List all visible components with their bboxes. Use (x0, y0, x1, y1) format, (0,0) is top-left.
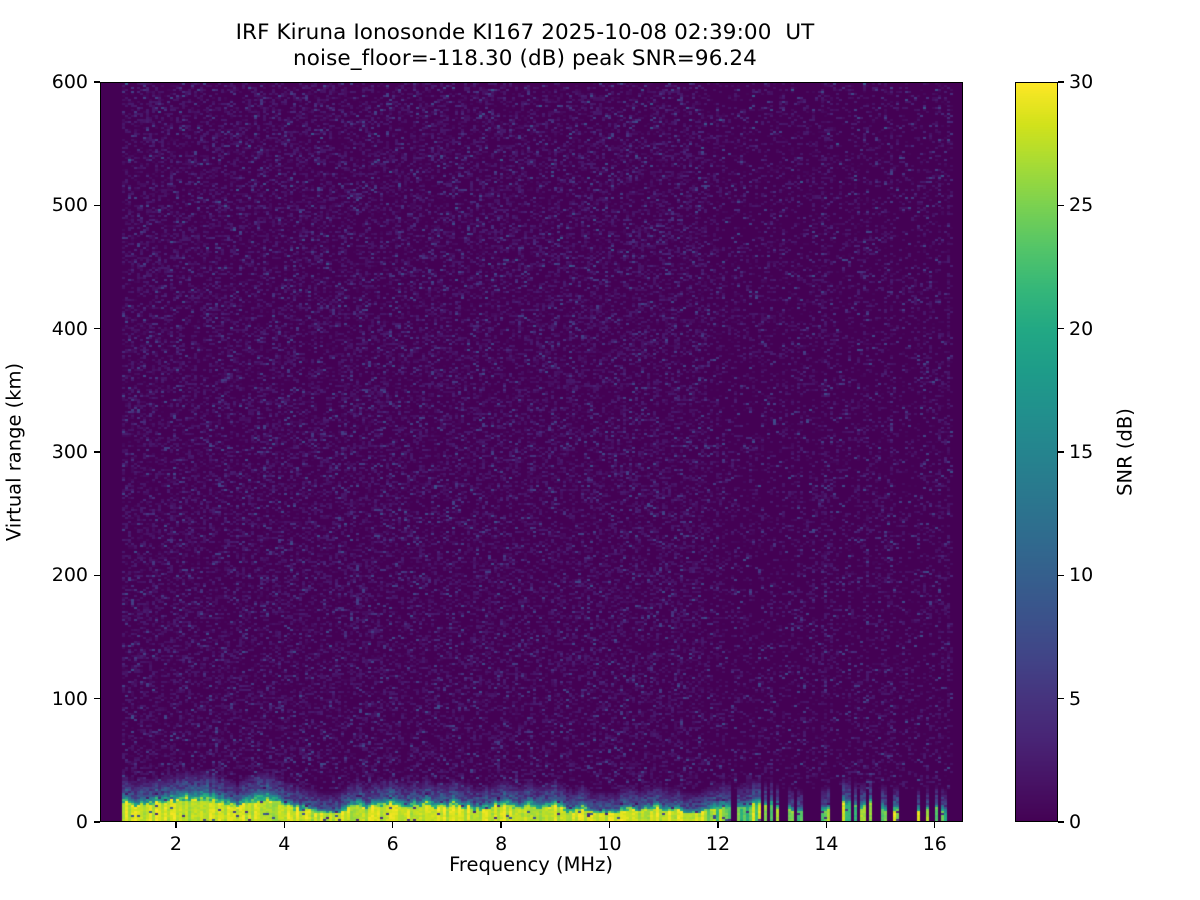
colorbar-tick-label: 15 (1069, 441, 1093, 463)
ionogram-heatmap[interactable] (101, 83, 963, 822)
y-axis-tick-mark (94, 451, 100, 452)
colorbar-tick-mark (1058, 698, 1064, 699)
y-axis-tick-label: 100 (34, 688, 88, 710)
ionogram-figure: IRF Kiruna Ionosonde KI167 2025-10-08 02… (0, 0, 1200, 900)
colorbar-gradient (1016, 83, 1058, 822)
x-axis-label: Frequency (MHz) (449, 853, 613, 876)
x-axis-tick-label: 2 (170, 833, 182, 855)
x-axis-tick-mark (934, 822, 935, 828)
x-axis-tick-mark (392, 822, 393, 828)
y-axis-label: Virtual range (km) (3, 363, 26, 541)
x-axis-tick-mark (175, 822, 176, 828)
colorbar-tick-label: 25 (1069, 194, 1093, 216)
plot-area[interactable] (100, 82, 963, 822)
colorbar-tick-label: 10 (1069, 564, 1093, 586)
x-axis-tick-label: 14 (814, 833, 838, 855)
x-axis-tick-label: 12 (706, 833, 730, 855)
y-axis-tick-label: 200 (34, 564, 88, 586)
colorbar-tick-mark (1058, 205, 1064, 206)
colorbar-tick-label: 20 (1069, 318, 1093, 340)
colorbar[interactable] (1015, 82, 1058, 822)
colorbar-tick-mark (1058, 821, 1064, 822)
y-axis-tick-mark (94, 821, 100, 822)
colorbar-tick-mark (1058, 328, 1064, 329)
y-axis-tick-mark (94, 698, 100, 699)
y-axis-tick-mark (94, 328, 100, 329)
x-axis-tick-label: 8 (495, 833, 507, 855)
colorbar-tick-mark (1058, 451, 1064, 452)
x-axis-tick-mark (609, 822, 610, 828)
colorbar-tick-mark (1058, 81, 1064, 82)
y-axis-tick-label: 500 (34, 194, 88, 216)
chart-title-line-1: IRF Kiruna Ionosonde KI167 2025-10-08 02… (0, 20, 1050, 46)
y-axis-tick-label: 600 (34, 71, 88, 93)
x-axis-tick-mark (717, 822, 718, 828)
x-axis-tick-mark (500, 822, 501, 828)
x-axis-tick-label: 10 (597, 833, 621, 855)
y-axis-tick-mark (94, 575, 100, 576)
colorbar-tick-label: 5 (1069, 688, 1081, 710)
colorbar-tick-label: 30 (1069, 71, 1093, 93)
colorbar-tick-mark (1058, 575, 1064, 576)
colorbar-tick-label: 0 (1069, 811, 1081, 833)
x-axis-tick-mark (826, 822, 827, 828)
colorbar-label: SNR (dB) (1114, 408, 1137, 496)
x-axis-tick-mark (284, 822, 285, 828)
y-axis-tick-label: 300 (34, 441, 88, 463)
x-axis-tick-label: 4 (278, 833, 290, 855)
y-axis-tick-label: 0 (34, 811, 88, 833)
y-axis-tick-mark (94, 205, 100, 206)
x-axis-tick-label: 6 (387, 833, 399, 855)
chart-title-line-2: noise_floor=-118.30 (dB) peak SNR=96.24 (0, 46, 1050, 72)
y-axis-tick-mark (94, 81, 100, 82)
x-axis-tick-label: 16 (923, 833, 947, 855)
chart-title: IRF Kiruna Ionosonde KI167 2025-10-08 02… (0, 20, 1050, 72)
y-axis-tick-label: 400 (34, 318, 88, 340)
